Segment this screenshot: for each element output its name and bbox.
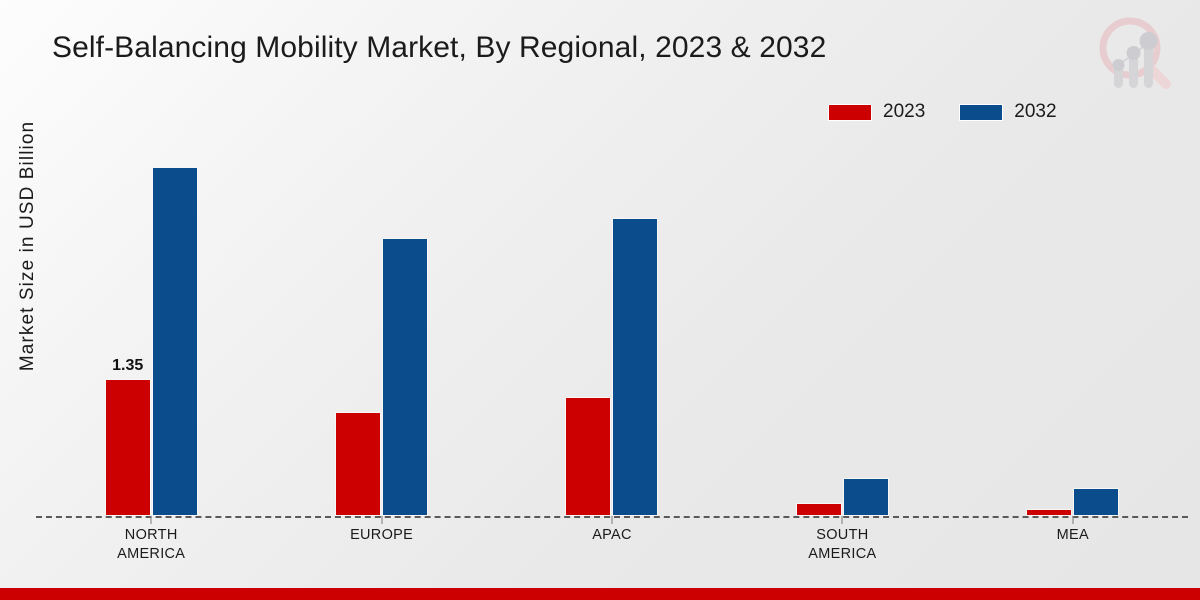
magnifier-icon [1103,21,1166,84]
legend-item-2032[interactable]: 2032 [959,101,1056,123]
bar-value-2023-north-america: 1.35 [112,357,143,375]
x-tick-europe [381,516,382,524]
category-label-line-1: MEA [958,526,1188,545]
legend-item-2023[interactable]: 2023 [828,101,925,123]
legend-label-2032: 2032 [1014,101,1056,123]
category-label-line-1: NORTH [36,526,266,545]
category-label-line-1: APAC [497,526,727,545]
category-label-line-2: AMERICA [36,545,266,564]
x-tick-mea [1072,516,1073,524]
bar-group-apac: APAC [497,150,727,516]
bar-2023-south-america[interactable] [796,503,842,516]
footer-accent-bar [0,588,1200,600]
category-label-line-2: AMERICA [727,545,957,564]
category-label-europe: EUROPE [266,526,496,545]
category-label-line-1: SOUTH [727,526,957,545]
category-label-apac: APAC [497,526,727,545]
category-label-line-1: EUROPE [266,526,496,545]
x-tick-south-america [842,516,843,524]
bar-2032-europe[interactable] [382,238,428,516]
bar-2032-apac[interactable] [612,218,658,516]
bar-group-mea: MEA [958,150,1188,516]
x-tick-apac [611,516,612,524]
plot-area: 1.35 NORTH AMERICA EUROPE [36,150,1188,516]
bars-north-america: 1.35 [36,150,266,516]
bars-europe [266,150,496,516]
market-research-logo-watermark [1086,8,1182,100]
page-title: Self-Balancing Mobility Market, By Regio… [52,31,826,65]
bar-2023-apac[interactable] [565,397,611,516]
bar-2023-europe[interactable] [335,412,381,516]
chart-legend: 2023 2032 [828,101,1057,123]
line-dots-icon [1113,32,1158,71]
chart-page: Self-Balancing Mobility Market, By Regio… [0,0,1200,600]
legend-label-2023: 2023 [883,101,925,123]
bar-chart-icon [1114,44,1153,88]
bar-group-south-america: SOUTH AMERICA [727,150,957,516]
bars-apac [497,150,727,516]
bar-group-europe: EUROPE [266,150,496,516]
bar-group-north-america: 1.35 NORTH AMERICA [36,150,266,516]
bars-mea [958,150,1188,516]
legend-swatch-2023 [828,104,872,121]
bar-2032-south-america[interactable] [843,478,889,516]
legend-swatch-2032 [959,104,1003,121]
category-label-south-america: SOUTH AMERICA [727,526,957,564]
bar-2032-mea[interactable] [1073,488,1119,516]
category-label-mea: MEA [958,526,1188,545]
bar-2023-mea[interactable] [1026,509,1072,516]
bar-2032-north-america[interactable] [152,167,198,516]
bars-south-america [727,150,957,516]
category-label-north-america: NORTH AMERICA [36,526,266,564]
x-tick-north-america [151,516,152,524]
bar-2023-north-america[interactable]: 1.35 [105,379,151,516]
